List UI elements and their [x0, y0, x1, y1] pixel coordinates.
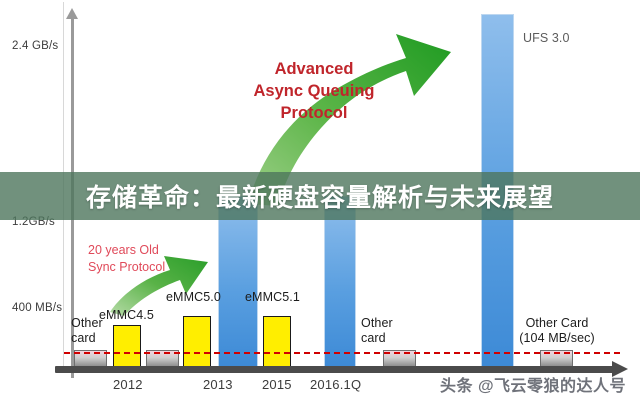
x-axis-tick-2013: 2013	[203, 377, 233, 392]
x-axis-tick-2015: 2015	[262, 377, 292, 392]
caption-other-card-2016: Other card	[361, 316, 393, 346]
title-banner: 存储革命：最新硬盘容量解析与未来展望	[0, 172, 640, 220]
caption-emmc51: eMMC5.1	[245, 290, 300, 304]
y-axis-label-bottom: 400 MB/s	[12, 302, 62, 314]
reference-line-104mbs	[64, 352, 620, 354]
bar-emmc45	[113, 325, 141, 367]
bar-emmc50	[183, 316, 211, 367]
caption-emmc50: eMMC5.0	[166, 290, 221, 304]
bar-emmc51	[263, 316, 291, 367]
caption-other-card-last: Other Card (104 MB/sec)	[514, 316, 600, 346]
x-axis-tick-2012: 2012	[113, 377, 143, 392]
annotation-legacy-protocol: 20 years Old Sync Protocol	[88, 242, 208, 276]
caption-other-card-2012: Other card	[71, 316, 103, 346]
chart-image: 2.4 GB/s 1.2GB/s 400 MB/s Advanced Async…	[0, 0, 640, 400]
page-title: 存储革命：最新硬盘容量解析与未来展望	[86, 178, 554, 214]
watermark-text: 头条 @飞云零狼的达人号	[440, 372, 626, 396]
y-axis-label-top: 2.4 GB/s	[12, 40, 58, 52]
annotation-advanced-protocol: Advanced Async Queuing Protocol	[233, 58, 395, 124]
x-axis-tick-2016-1q: 2016.1Q	[310, 377, 361, 392]
caption-emmc45: eMMC4.5	[99, 308, 154, 322]
bar-ufs-2016	[324, 196, 356, 367]
caption-ufs30: UFS 3.0	[523, 31, 570, 45]
bar-ufs-2013	[218, 196, 258, 367]
y-axis-arrow-icon	[66, 8, 78, 19]
